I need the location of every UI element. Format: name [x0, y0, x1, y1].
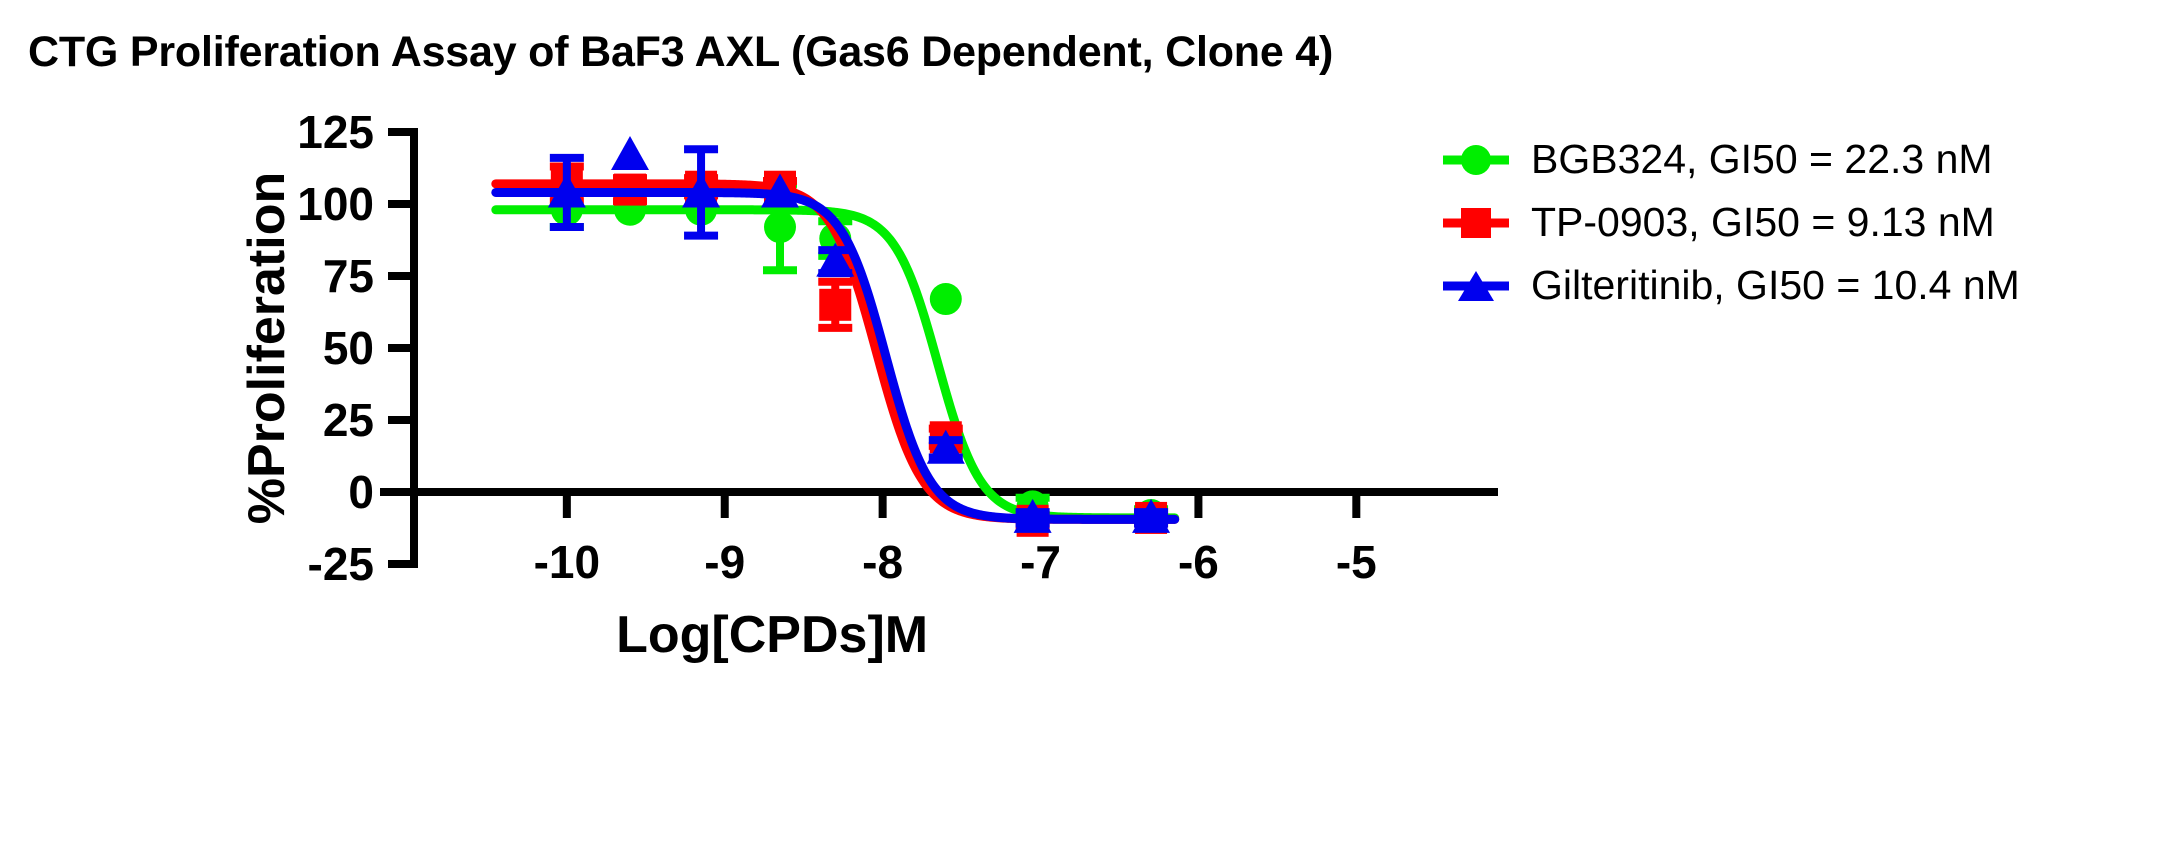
data-point: [819, 289, 851, 321]
legend-item-0[interactable]: BGB324, GI50 = 22.3 nM: [1443, 128, 2143, 191]
legend-marker: [1461, 208, 1491, 238]
legend-marker: [1461, 145, 1491, 175]
legend-label-gilteritinib: Gilteritinib, GI50 = 10.4 nM: [1531, 265, 2020, 306]
y-tick-label: 75: [323, 250, 374, 302]
triangle-marker-icon: [1443, 271, 1509, 301]
y-tick-label: 25: [323, 394, 374, 446]
y-tick-label: 50: [323, 322, 374, 374]
x-tick-label: -9: [704, 536, 745, 588]
chart-figure: CTG Proliferation Assay of BaF3 AXL (Gas…: [0, 0, 2174, 855]
y-tick-label: -25: [308, 538, 374, 590]
legend-label-bgb324: BGB324, GI50 = 22.3 nM: [1531, 139, 1993, 180]
legend-item-2[interactable]: Gilteritinib, GI50 = 10.4 nM: [1443, 254, 2143, 317]
y-tick-label: 0: [348, 466, 374, 518]
circle-marker-icon: [1443, 145, 1509, 175]
legend: BGB324, GI50 = 22.3 nM TP-0903, GI50 = 9…: [1443, 128, 2143, 317]
x-tick-label: -5: [1336, 536, 1377, 588]
x-tick-label: -7: [1020, 536, 1061, 588]
data-point: [930, 283, 962, 315]
x-tick-label: -10: [534, 536, 600, 588]
y-axis-label: %Proliferation: [238, 172, 296, 525]
y-tick-label: 125: [297, 106, 374, 158]
data-point: [764, 211, 796, 243]
legend-item-1[interactable]: TP-0903, GI50 = 9.13 nM: [1443, 191, 2143, 254]
legend-marker: [1458, 271, 1494, 301]
fit-curve: [496, 184, 1175, 520]
x-tick-label: -6: [1178, 536, 1219, 588]
page-title: CTG Proliferation Assay of BaF3 AXL (Gas…: [28, 28, 1333, 77]
y-tick-label: 100: [297, 178, 374, 230]
legend-label-tp0903: TP-0903, GI50 = 9.13 nM: [1531, 202, 1995, 243]
data-point: [611, 136, 649, 170]
square-marker-icon: [1443, 208, 1509, 238]
x-axis-label: Log[CPDs]M: [616, 606, 928, 664]
series-Gilteritinib: [496, 136, 1175, 533]
x-tick-label: -8: [862, 536, 903, 588]
